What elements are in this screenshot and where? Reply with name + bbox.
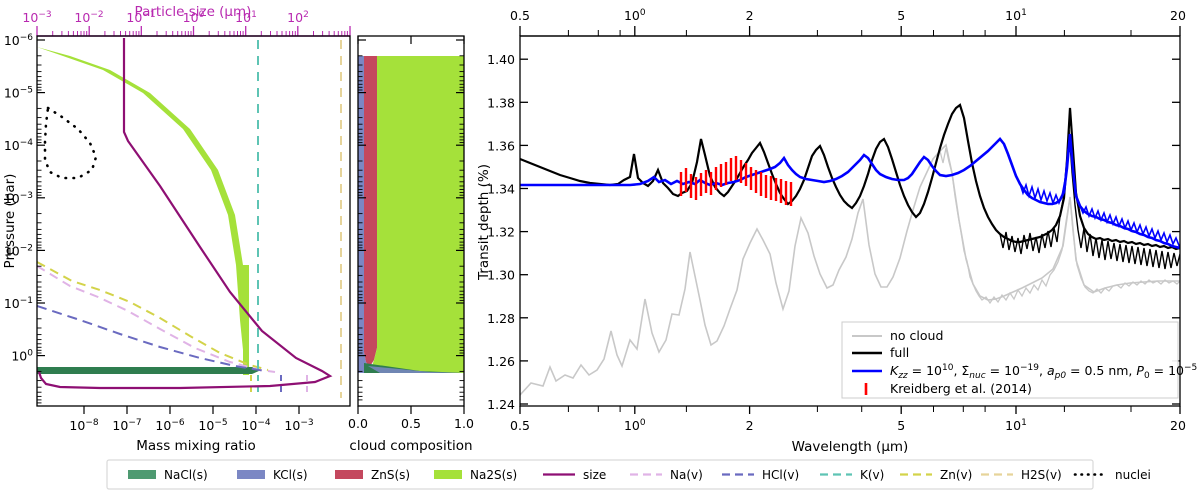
legend-label-na2s: Na2S(s) xyxy=(470,468,517,482)
legend-swatch-nacl xyxy=(128,470,156,479)
series-nacl-band-taper xyxy=(37,367,260,374)
legend-label-no-cloud: no cloud xyxy=(890,328,943,343)
spectrum-legend: no cloud full Kzz = 1010, Σ̇nuc = 10−19,… xyxy=(842,322,1200,398)
transit-depth-axis-label: Transit depth (%) xyxy=(476,164,492,281)
legend-label-nacl: NaCl(s) xyxy=(164,468,208,482)
legend-swatch-zns xyxy=(335,470,363,479)
legend-label-zns: ZnS(s) xyxy=(371,468,410,482)
comp-axis-label: cloud composition xyxy=(349,438,472,454)
comp-tick-2: 1.0 xyxy=(454,416,474,431)
figure-svg: Particle size (µm) xyxy=(0,0,1200,493)
legend-label-nuclei: nuclei xyxy=(1115,468,1151,482)
comp-na2s xyxy=(371,56,464,373)
depth-tick-6: 1.36 xyxy=(487,138,515,153)
depth-tick-2: 1.28 xyxy=(487,311,515,326)
wavelength-top-tick-0: 0.5 xyxy=(510,8,530,23)
depth-tick-7: 1.38 xyxy=(487,95,515,110)
legend-label-kv: K(v) xyxy=(860,468,884,482)
bottom-legend: NaCl(s) KCl(s) ZnS(s) Na2S(s) size Na(v)… xyxy=(107,460,1151,489)
wavelength-top-tick-5: 20 xyxy=(1170,8,1186,23)
comp-tick-1: 0.5 xyxy=(401,416,421,431)
legend-label-full: full xyxy=(890,345,909,360)
depth-tick-0: 1.24 xyxy=(487,397,515,412)
pressure-axis-label: Pressure (bar) xyxy=(2,174,18,269)
figure-root: Particle size (µm) xyxy=(0,0,1200,493)
wavelength-tick-2: 2 xyxy=(746,418,754,433)
series-na2s-band-lower xyxy=(243,265,249,375)
wavelength-top-tick-3: 5 xyxy=(897,8,905,23)
comp-tick-0: 0.0 xyxy=(348,416,368,431)
mmr-axis-label: Mass mixing ratio xyxy=(136,438,255,454)
legend-label-hclv: HCl(v) xyxy=(762,468,799,482)
wavelength-top-tick-2: 2 xyxy=(746,8,754,23)
depth-tick-8: 1.40 xyxy=(487,52,515,67)
legend-label-kreidberg: Kreidberg et al. (2014) xyxy=(890,381,1032,396)
wavelength-axis-label: Wavelength (µm) xyxy=(792,439,909,455)
wavelength-tick-0: 0.5 xyxy=(510,418,530,433)
legend-label-nav: Na(v) xyxy=(670,468,703,482)
legend-swatch-kcl xyxy=(237,470,265,479)
legend-label-znv: Zn(v) xyxy=(940,468,972,482)
legend-label-kcl: KCl(s) xyxy=(273,468,308,482)
wavelength-tick-5: 20 xyxy=(1170,418,1186,433)
legend-swatch-na2s xyxy=(434,470,462,479)
wavelength-tick-3: 5 xyxy=(897,418,905,433)
legend-label-size: size xyxy=(583,468,606,482)
comp-zns xyxy=(364,56,377,369)
depth-tick-1: 1.26 xyxy=(487,354,515,369)
legend-label-h2sv: H2S(v) xyxy=(1021,468,1062,482)
